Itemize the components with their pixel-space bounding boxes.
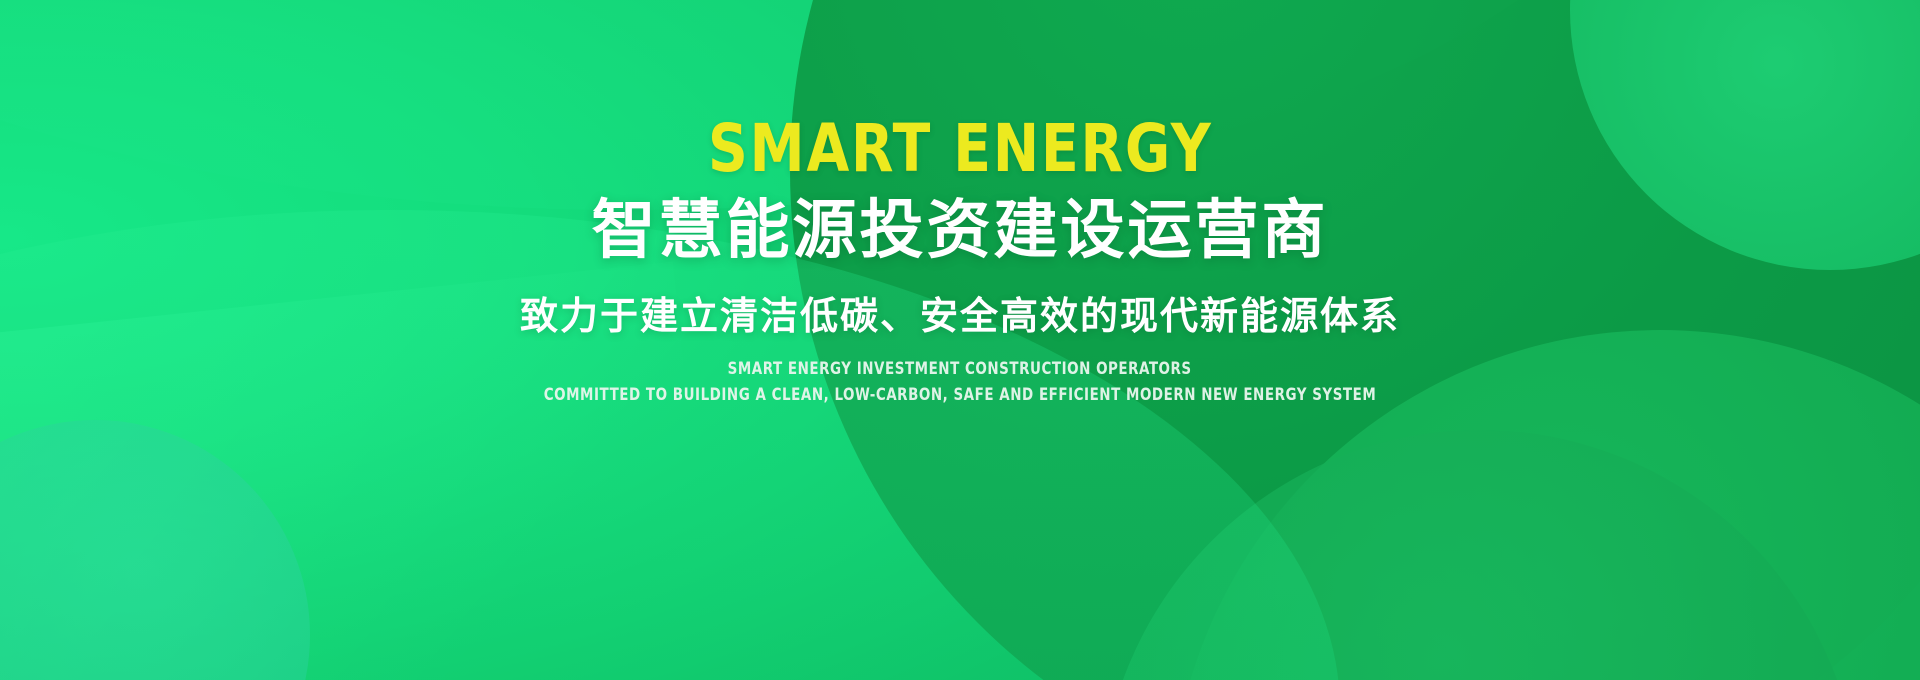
headline-english: SMART ENERGY bbox=[708, 116, 1213, 182]
subheadline-english-group: SMART ENERGY INVESTMENT CONSTRUCTION OPE… bbox=[487, 359, 1433, 407]
subheadline-english-line-1: SMART ENERGY INVESTMENT CONSTRUCTION OPE… bbox=[728, 359, 1192, 380]
headline-chinese: 智慧能源投资建设运营商 bbox=[592, 196, 1329, 265]
subheadline-chinese: 致力于建立清洁低碳、安全高效的现代新能源体系 bbox=[520, 295, 1400, 341]
banner-content: SMART ENERGY 智慧能源投资建设运营商 致力于建立清洁低碳、安全高效的… bbox=[0, 0, 1920, 680]
hero-banner: SMART ENERGY 智慧能源投资建设运营商 致力于建立清洁低碳、安全高效的… bbox=[0, 0, 1920, 680]
subheadline-english-line-2: COMMITTED TO BUILDING A CLEAN, LOW-CARBO… bbox=[544, 385, 1377, 406]
